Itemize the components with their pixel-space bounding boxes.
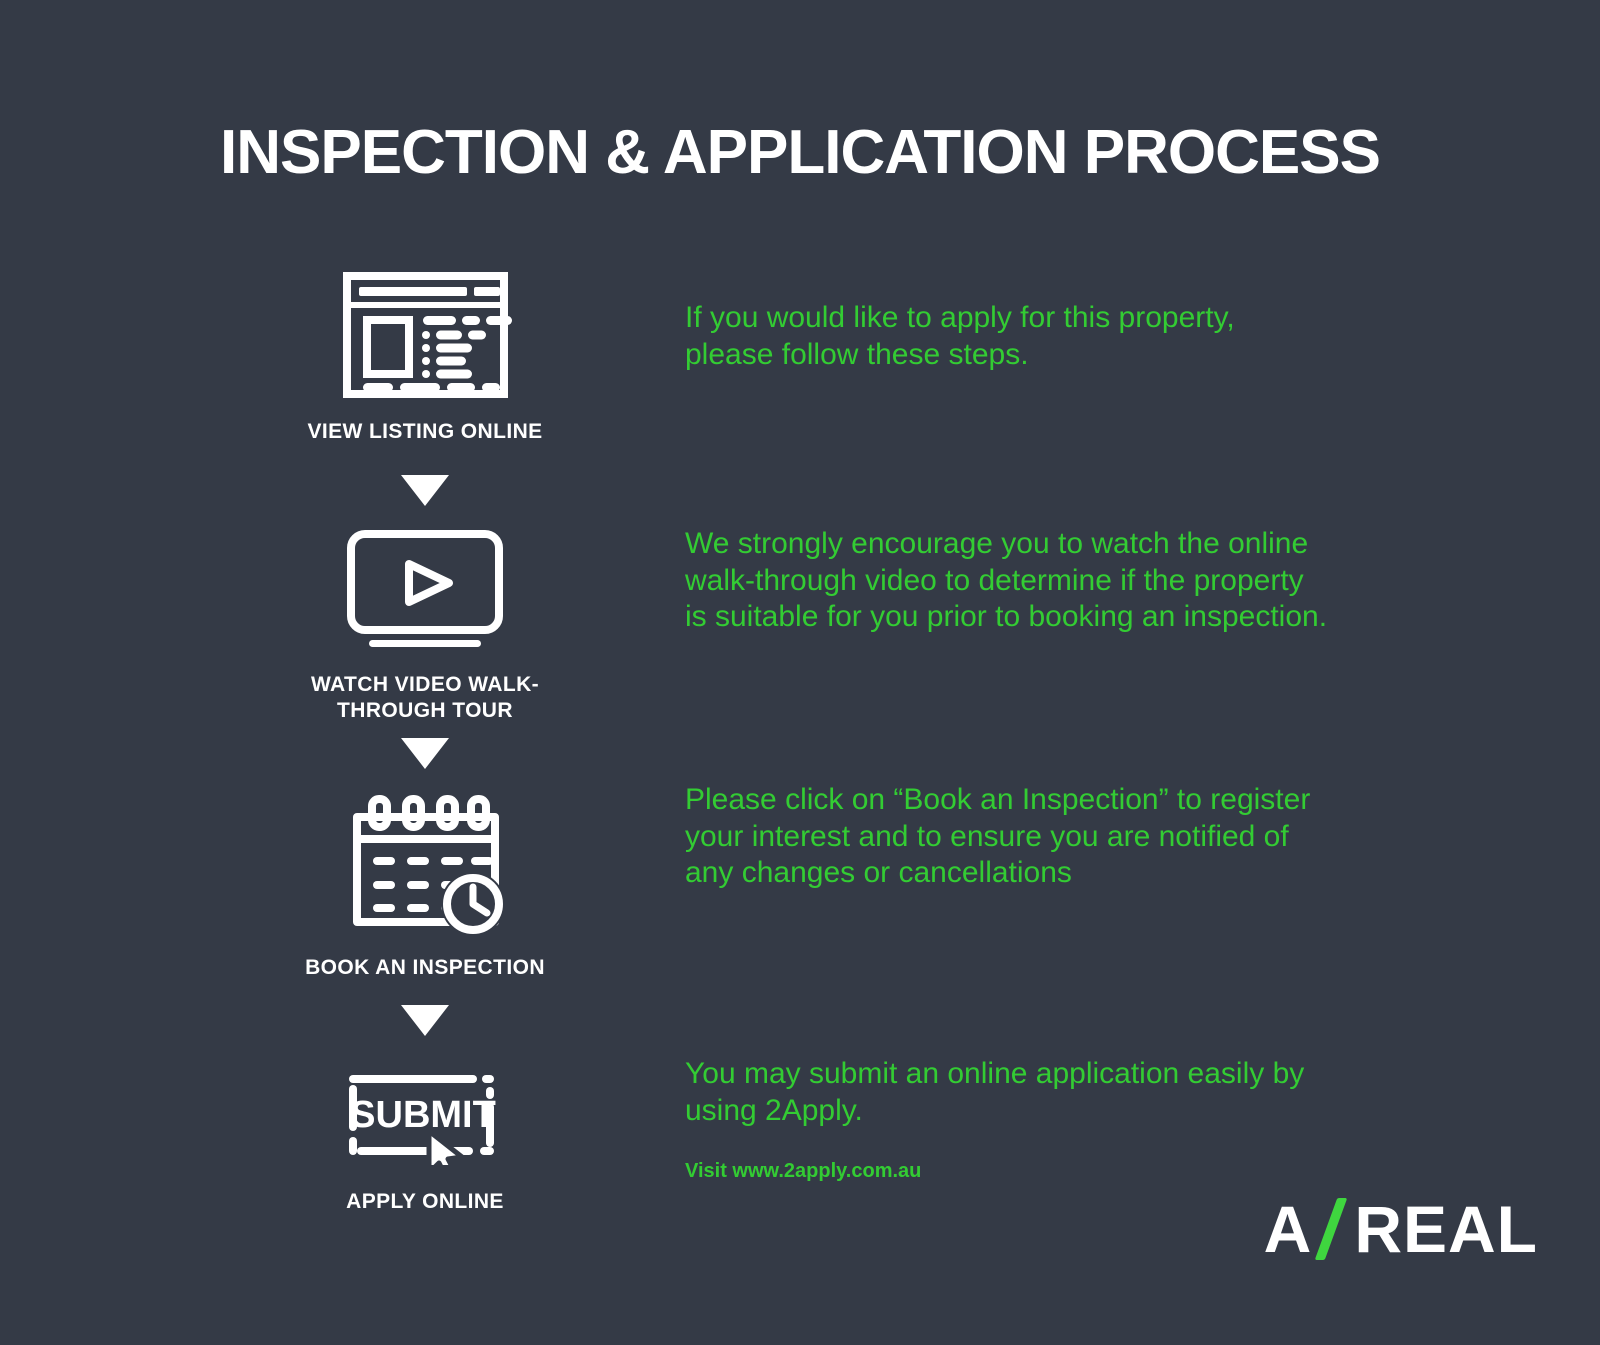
calendar-clock-icon: [345, 786, 505, 941]
step-label: APPLY ONLINE: [346, 1189, 504, 1215]
infographic-canvas: INSPECTION & APPLICATION PROCESS: [0, 0, 1600, 1345]
copy-block-video: We strongly encourage you to watch the o…: [685, 526, 1327, 636]
logo-letter-a: A: [1264, 1196, 1313, 1262]
step-watch-video: WATCH VIDEO WALK-THROUGH TOUR: [265, 523, 585, 725]
logo-slash-icon: [1315, 1198, 1348, 1260]
submit-icon-text: SUBMIT: [350, 1094, 496, 1136]
arrow-down-2: [265, 738, 585, 769]
step-label: BOOK AN INSPECTION: [305, 955, 545, 981]
copy-block-intro: If you would like to apply for this prop…: [685, 300, 1235, 373]
step-apply-online: SUBMIT APPLY ONLINE: [265, 1055, 585, 1215]
submit-button-cursor-icon: SUBMIT: [343, 1055, 508, 1175]
arrow-down-3: [265, 1005, 585, 1036]
step-book-inspection: BOOK AN INSPECTION: [265, 786, 585, 981]
arrow-down-1: [265, 475, 585, 506]
brand-logo: A REAL: [1264, 1196, 1538, 1262]
step-label: VIEW LISTING ONLINE: [307, 419, 542, 445]
logo-word-real: REAL: [1354, 1196, 1538, 1262]
copy-block-inspection: Please click on “Book an Inspection” to …: [685, 782, 1310, 892]
video-monitor-play-icon: [345, 523, 505, 658]
visit-link[interactable]: Visit www.2apply.com.au: [685, 1160, 921, 1183]
page-title: INSPECTION & APPLICATION PROCESS: [0, 120, 1600, 185]
step-label: WATCH VIDEO WALK-THROUGH TOUR: [265, 672, 585, 725]
browser-listing-icon: [338, 265, 513, 405]
step-view-listing-online: VIEW LISTING ONLINE: [265, 265, 585, 445]
copy-block-apply: You may submit an online application eas…: [685, 1056, 1304, 1129]
